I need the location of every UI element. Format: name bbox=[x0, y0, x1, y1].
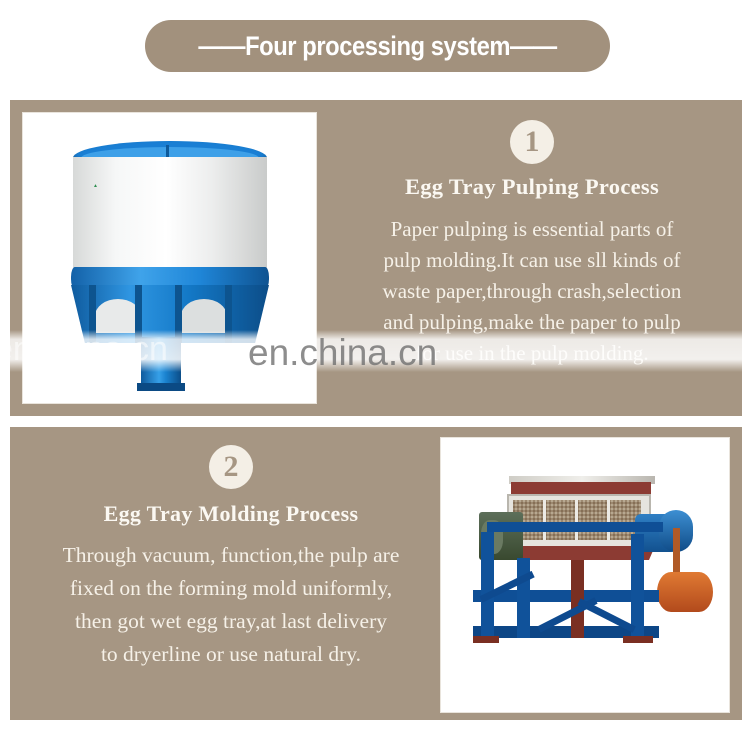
molding-machine-photo bbox=[440, 437, 730, 713]
panel-2-line: Through vacuum, function,the pulp are bbox=[22, 539, 440, 572]
panel-2-line: then got wet egg tray,at last delivery bbox=[22, 605, 440, 638]
panel-1-description: Paper pulping is essential parts of pulp… bbox=[332, 214, 732, 369]
step-number-badge-1: 1 bbox=[510, 120, 554, 164]
panel-2-heading: Egg Tray Molding Process bbox=[22, 501, 440, 527]
pulper-rib bbox=[135, 285, 142, 343]
pulper-rib bbox=[89, 285, 96, 343]
machine-leg bbox=[481, 532, 494, 638]
panel-1-line: for use in the pulp molding. bbox=[332, 338, 732, 369]
page-title: ——Four processing system—— bbox=[198, 31, 556, 62]
machine-leg bbox=[631, 534, 644, 638]
machine-pipe bbox=[673, 528, 680, 578]
pulper-base-opening-right bbox=[181, 299, 227, 333]
panel-2-text-column: 2 Egg Tray Molding Process Through vacuu… bbox=[22, 445, 440, 671]
panel-1-line: and pulping,make the paper to pulp bbox=[332, 307, 732, 338]
machine-leg bbox=[517, 558, 530, 638]
panel-1-heading: Egg Tray Pulping Process bbox=[332, 174, 732, 200]
pulper-tank-body bbox=[73, 157, 267, 275]
machine-upper-red-beam bbox=[511, 482, 651, 494]
panel-2-description: Through vacuum, function,the pulp are fi… bbox=[22, 539, 440, 671]
pulper-rib bbox=[175, 285, 182, 343]
page-title-banner: ——Four processing system—— bbox=[145, 20, 610, 72]
panel-1-text-column: 1 Egg Tray Pulping Process Paper pulping… bbox=[332, 120, 732, 369]
hydrapulper-illustration: ▲ bbox=[49, 125, 289, 393]
pulper-foot bbox=[137, 383, 185, 391]
panel-1-line: Paper pulping is essential parts of bbox=[332, 214, 732, 245]
machine-foot-pad bbox=[473, 636, 499, 643]
machine-foot-pad bbox=[623, 636, 653, 643]
machine-mold-divider bbox=[575, 500, 578, 540]
machine-air-tank bbox=[657, 572, 713, 612]
panel-2-line: to dryerline or use natural dry. bbox=[22, 638, 440, 671]
machine-mold-divider bbox=[543, 500, 546, 540]
process-panel-2: 2 Egg Tray Molding Process Through vacuu… bbox=[10, 427, 742, 720]
egg-tray-machine-illustration bbox=[459, 468, 713, 686]
machine-frame-top bbox=[487, 522, 663, 532]
pulper-discharge-leg bbox=[141, 337, 181, 389]
panel-1-line: waste paper,through crash,selection bbox=[332, 276, 732, 307]
pulper-brand-logo: ▲ bbox=[93, 183, 127, 195]
panel-2-line: fixed on the forming mold uniformly, bbox=[22, 572, 440, 605]
machine-mold-divider bbox=[607, 500, 610, 540]
step-number-badge-2: 2 bbox=[209, 445, 253, 489]
pulping-machine-photo: ▲ bbox=[22, 112, 317, 404]
panel-1-line: pulp molding.It can use sll kinds of bbox=[332, 245, 732, 276]
process-panel-1: ▲ 1 Egg Tray Pulping Process Paper pulpi… bbox=[10, 100, 742, 416]
pulper-rib bbox=[225, 285, 232, 343]
